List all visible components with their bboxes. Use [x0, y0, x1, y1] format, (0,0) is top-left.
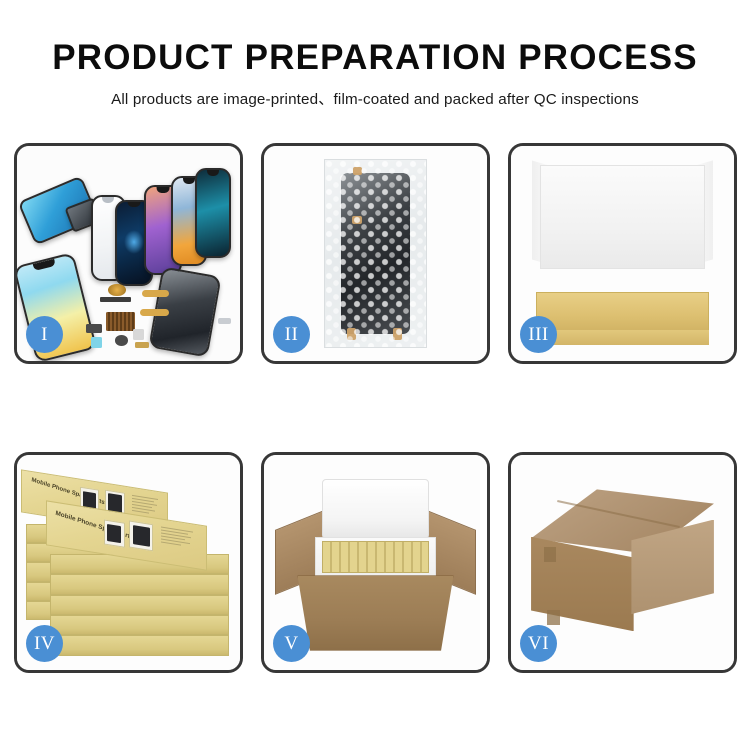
bubble-wrap-bag [324, 159, 427, 348]
logic-board [106, 312, 135, 331]
box-window-b1 [104, 519, 125, 547]
box-slab-r4 [50, 615, 228, 635]
box-text-lines-a [133, 494, 161, 516]
header: PRODUCT PREPARATION PROCESS All products… [0, 0, 750, 109]
infographic-page: PRODUCT PREPARATION PROCESS All products… [0, 0, 750, 750]
small-chip-4 [133, 329, 144, 340]
box-slab-r5 [50, 635, 228, 655]
packed-yellow-boxes [322, 541, 429, 573]
step-panel-1[interactable]: I [14, 143, 243, 364]
box-tray [536, 292, 710, 335]
step-badge-6: VI [520, 625, 557, 662]
box-slab-r3 [50, 595, 228, 615]
small-chip-5 [135, 342, 148, 348]
small-chip-3 [115, 335, 128, 346]
carton-tape-lower [547, 610, 560, 625]
phone-screen-teal [195, 168, 231, 258]
flex-cable-2 [140, 309, 169, 315]
step-badge-1: I [26, 316, 63, 353]
styrofoam-lid [322, 479, 429, 539]
page-subtitle: All products are image-printed、film-coat… [0, 87, 750, 109]
step-panel-5[interactable]: V [261, 452, 490, 673]
speaker-module [108, 284, 126, 297]
flex-cable-1 [142, 290, 169, 297]
bubble-texture [325, 160, 426, 347]
box-slab-r2 [50, 574, 228, 594]
component-strip [100, 297, 131, 302]
small-chip-2 [91, 337, 102, 348]
box-window-b2 [129, 520, 153, 551]
step-badge-3: III [520, 316, 557, 353]
page-title: PRODUCT PREPARATION PROCESS [0, 40, 750, 77]
process-step-grid: I II [14, 143, 736, 673]
step-badge-4: IV [26, 625, 63, 662]
step-panel-3[interactable]: III [508, 143, 737, 364]
box-lid [540, 165, 705, 268]
step-badge-5: V [273, 625, 310, 662]
small-chip-1 [86, 324, 102, 333]
step-panel-6[interactable]: VI [508, 452, 737, 673]
box-text-lines-b [161, 527, 196, 551]
box-tray-front [536, 330, 710, 345]
carton-tape-upper [544, 547, 555, 562]
screwdriver-tip [218, 318, 231, 324]
step-panel-2[interactable]: II [261, 143, 490, 364]
step-badge-2: II [273, 316, 310, 353]
carton-body [297, 575, 453, 650]
step-panel-4[interactable]: Mobile Phone Spare Parts Mobile [14, 452, 243, 673]
